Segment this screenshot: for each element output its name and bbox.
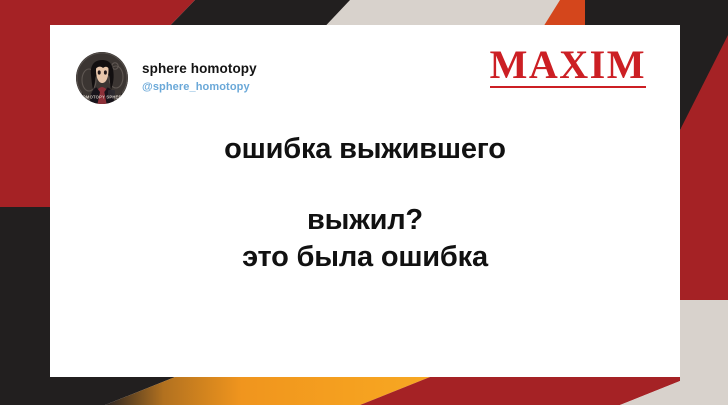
avatar-artwork: HOMOTOPY SPHERE: [76, 52, 128, 104]
meme-lower-line-2: это была ошибка: [50, 239, 680, 276]
meme-lower-block: выжил? это была ошибка: [50, 202, 680, 276]
dark-left-lower-block: [0, 207, 50, 405]
meme-text-body: ошибка выжившего выжил? это была ошибка: [50, 133, 680, 277]
tweet-header: HOMOTOPY SPHERE sphere homotopy @sphere_…: [76, 52, 257, 104]
tweet-card: HOMOTOPY SPHERE sphere homotopy @sphere_…: [50, 25, 680, 377]
account-display-name: sphere homotopy: [142, 61, 257, 78]
meme-image-canvas: HOMOTOPY SPHERE sphere homotopy @sphere_…: [0, 0, 728, 405]
maxim-logo-text: MAXIM: [490, 45, 646, 85]
svg-text:HOMOTOPY SPHERE: HOMOTOPY SPHERE: [79, 94, 124, 99]
account-handle[interactable]: @sphere_homotopy: [142, 80, 257, 95]
account-name-block: sphere homotopy @sphere_homotopy: [142, 61, 257, 95]
maxim-logo: MAXIM: [490, 45, 646, 88]
meme-top-line: ошибка выжившего: [50, 133, 680, 166]
meme-lower-line-1: выжил?: [50, 202, 680, 239]
avatar[interactable]: HOMOTOPY SPHERE: [76, 52, 128, 104]
beige-bottom-right-block: [680, 295, 728, 405]
